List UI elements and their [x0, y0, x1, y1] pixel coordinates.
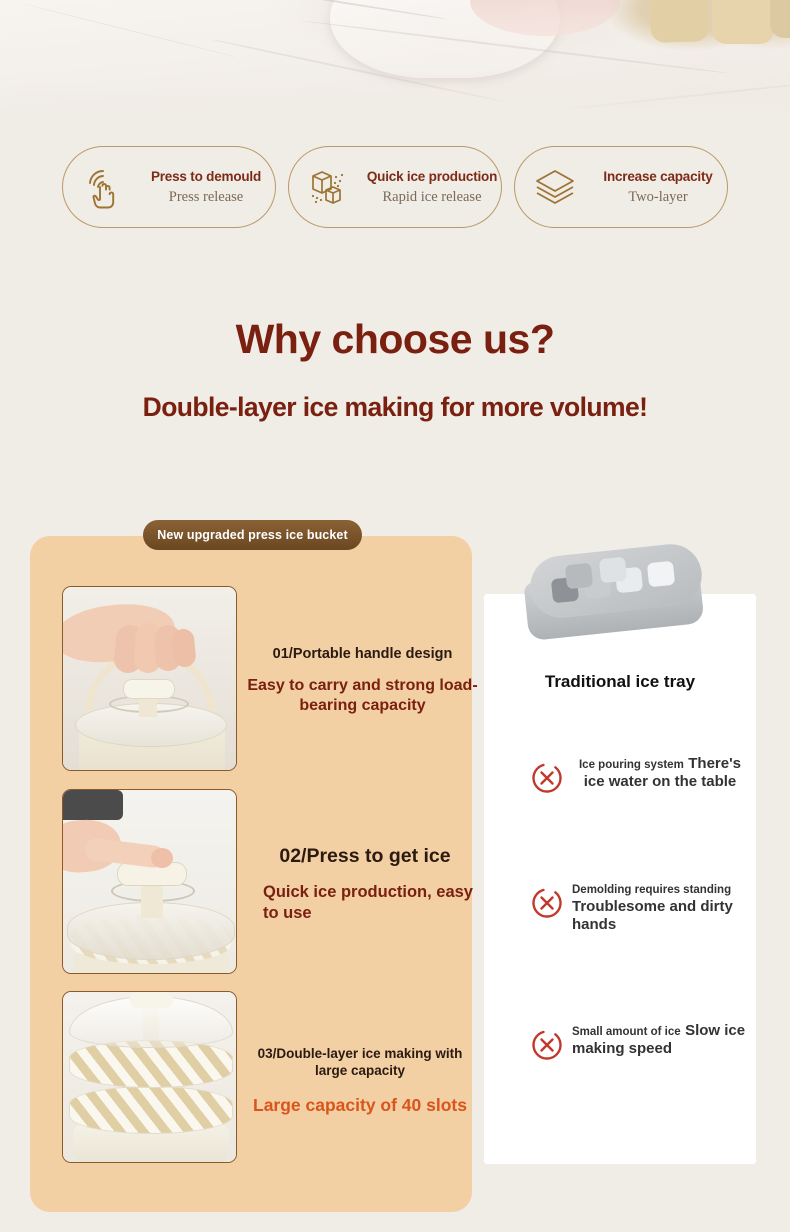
ice-cubes-icon	[305, 163, 353, 211]
bucket-knob-stem-shape	[141, 882, 163, 918]
badge-main-label: Press to demould	[151, 169, 261, 184]
con-big-label: Troublesome and dirty hands	[572, 898, 733, 933]
x-circle-icon	[530, 761, 564, 795]
counter-shape	[63, 790, 123, 820]
cup-shape-2	[712, 0, 774, 44]
con-item-ice-pouring: Ice pouring system There's ice water on …	[530, 755, 748, 795]
badge-text: Quick ice production Rapid ice release	[363, 169, 501, 206]
ice-tray-shape-lower	[69, 1086, 233, 1134]
stacked-layers-icon	[531, 163, 579, 211]
product-tag-badge: New upgraded press ice bucket	[143, 520, 362, 550]
badge-press-to-demould: Press to demould Press release	[62, 146, 276, 228]
feature-text-03: 03/Double-layer ice making with large ca…	[240, 1045, 480, 1116]
feature-number-label: 02/Press to get ice	[245, 845, 485, 868]
marble-vein	[23, 3, 237, 58]
hero-fade-overlay	[0, 82, 790, 118]
con-item-slow-ice: Small amount of ice Slow ice making spee…	[530, 1022, 748, 1062]
con-small-label: Small amount of ice	[572, 1026, 681, 1038]
con-text: Demolding requires standing Troublesome …	[572, 880, 748, 934]
badge-text: Increase capacity Two-layer	[589, 169, 727, 206]
x-circle-icon	[530, 886, 564, 920]
badge-sub-label: Two-layer	[628, 189, 687, 206]
badge-main-label: Increase capacity	[603, 169, 712, 184]
badge-increase-capacity: Increase capacity Two-layer	[514, 146, 728, 228]
ice-cube-shape	[647, 561, 675, 588]
fingertip-shape	[151, 848, 173, 868]
badge-quick-ice-production: Quick ice production Rapid ice release	[288, 146, 502, 228]
feature-number-label: 01/Portable handle design	[245, 646, 480, 662]
badge-main-label: Quick ice production	[367, 169, 497, 184]
ice-cube-shape	[599, 557, 627, 584]
ice-cube-shape	[565, 563, 593, 590]
con-small-label: Demolding requires standing	[572, 884, 731, 896]
con-item-demolding: Demolding requires standing Troublesome …	[530, 880, 748, 934]
page-subtitle: Double-layer ice making for more volume!	[0, 392, 790, 423]
finger-shape	[171, 628, 196, 668]
feature-number-label: 03/Double-layer ice making with large ca…	[240, 1045, 480, 1079]
page-title: Why choose us?	[0, 316, 790, 363]
feature-text-01: 01/Portable handle design Easy to carry …	[245, 646, 480, 716]
bucket-knob-shape	[123, 679, 175, 699]
comparison-title: Traditional ice tray	[484, 672, 756, 692]
feature-desc-label: Large capacity of 40 slots	[240, 1095, 480, 1116]
badge-sub-label: Press release	[169, 189, 243, 206]
cup-shape-1	[649, 0, 709, 43]
product-photo-handle	[62, 586, 237, 771]
feature-text-02: 02/Press to get ice Quick ice production…	[245, 845, 485, 924]
badge-row: Press to demould Press release Quick ice…	[0, 146, 790, 230]
product-photo-double-layer	[62, 991, 237, 1163]
badge-text: Press to demould Press release	[137, 169, 275, 206]
feature-desc-label: Quick ice production, easy to use	[245, 882, 485, 924]
press-finger-icon	[79, 163, 127, 211]
cup-shape-3	[770, 0, 790, 38]
con-text: Ice pouring system There's ice water on …	[572, 755, 748, 791]
hero-photo	[0, 0, 790, 118]
con-text: Small amount of ice Slow ice making spee…	[572, 1022, 748, 1058]
x-circle-icon	[530, 1028, 564, 1062]
con-small-label: Ice pouring system	[579, 759, 684, 771]
bucket-knob-shape	[129, 992, 173, 1008]
badge-sub-label: Rapid ice release	[382, 189, 481, 206]
traditional-ice-tray-photo	[516, 548, 716, 644]
feature-desc-label: Easy to carry and strong load-bearing ca…	[245, 676, 480, 716]
product-photo-press	[62, 789, 237, 974]
